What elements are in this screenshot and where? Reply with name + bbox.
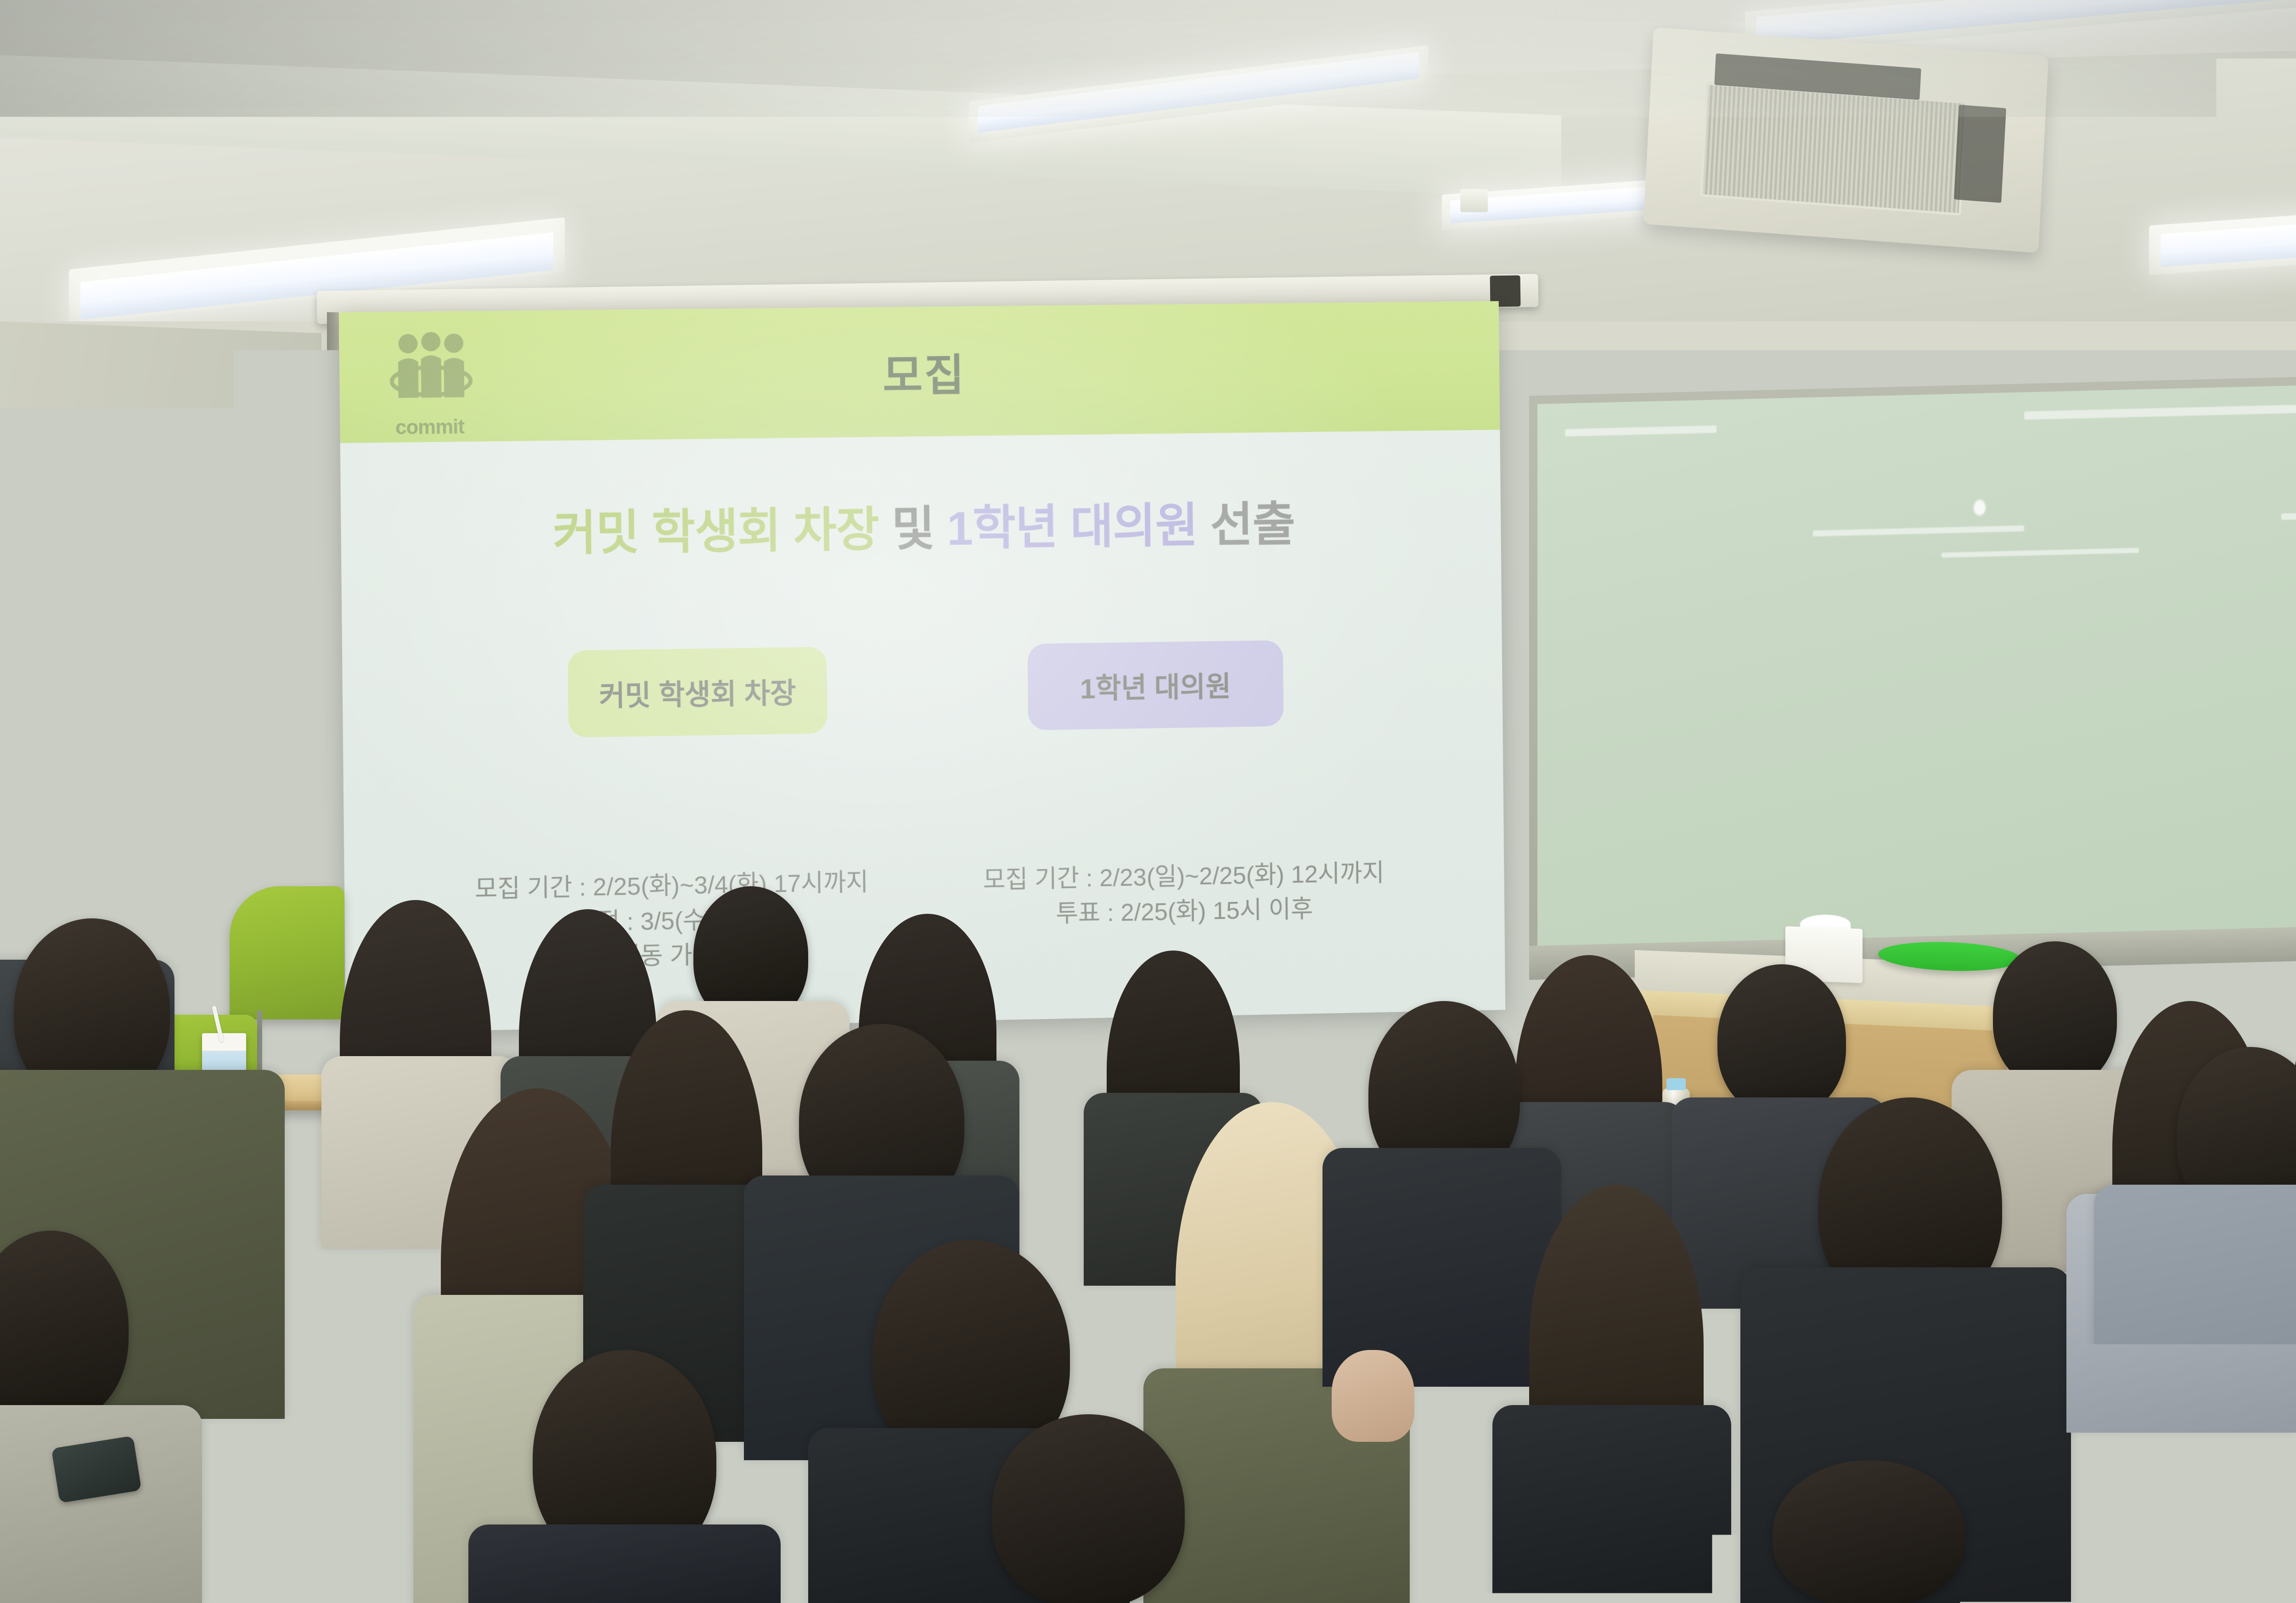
heading-part-2: 및 — [891, 503, 934, 556]
commit-logo-icon — [389, 330, 473, 423]
head — [1717, 964, 1846, 1116]
badge-freshman-rep: 1학년 대의원 — [1027, 640, 1283, 730]
torso — [1322, 1148, 1561, 1387]
heading-part-3: 1학년 대의원 — [947, 500, 1198, 556]
board-sheen-3 — [1813, 525, 2024, 536]
chair-left-far — [230, 886, 344, 1019]
slide-header-title: 모집 — [882, 339, 966, 404]
head — [1993, 941, 2117, 1088]
air-conditioner-unit — [1643, 27, 2049, 253]
heading-part-4: 선출 — [1210, 498, 1295, 552]
slide-badge-row: 커밋 학생회 차장 1학년 대의원 — [342, 637, 1503, 741]
audience-person-hand — [1332, 1350, 1414, 1442]
heading-part-1: 커밋 학생회 차장 — [552, 503, 879, 560]
detail-column-left: 모집 기간 : 2/25(화)~3/4(화) 17시까지 면접 : 3/5(수)… — [444, 864, 899, 978]
torso — [1492, 1405, 1731, 1603]
board-sheen-2 — [2024, 404, 2296, 420]
head — [1773, 1460, 1965, 1603]
juice-box-top — [202, 1033, 246, 1051]
classroom-photo-scene: commit 모집 커밋 학생회 차장 및 1학년 대의원 선출 커밋 학생회 … — [0, 0, 2296, 1603]
board-sheen-5 — [2281, 507, 2296, 520]
board-sheen-1 — [1565, 425, 1716, 436]
bottle-cap — [1666, 1078, 1686, 1090]
head — [992, 1414, 1185, 1603]
commit-logo-wordmark: commit — [384, 416, 476, 439]
whiteboard — [1537, 372, 2296, 951]
slide-main-heading: 커밋 학생회 차장 및 1학년 대의원 선출 — [341, 483, 1501, 567]
air-conditioner-grille — [1700, 82, 1967, 215]
air-conditioner-vane-side — [1954, 105, 2006, 202]
detail-column-right: 모집 기간 : 2/23(일)~2/25(화) 12시까지 투표 : 2/25(… — [960, 855, 1408, 968]
board-reflection-dot — [1974, 500, 1986, 516]
torso — [468, 1524, 781, 1603]
torso — [2094, 1185, 2296, 1603]
light-housing-7 — [1460, 189, 1488, 212]
torso — [0, 1405, 202, 1603]
slide-header: commit 모집 — [339, 301, 1500, 443]
badge-vice-chief: 커밋 학생회 차장 — [568, 647, 827, 738]
board-sheen-4 — [1941, 548, 2139, 558]
